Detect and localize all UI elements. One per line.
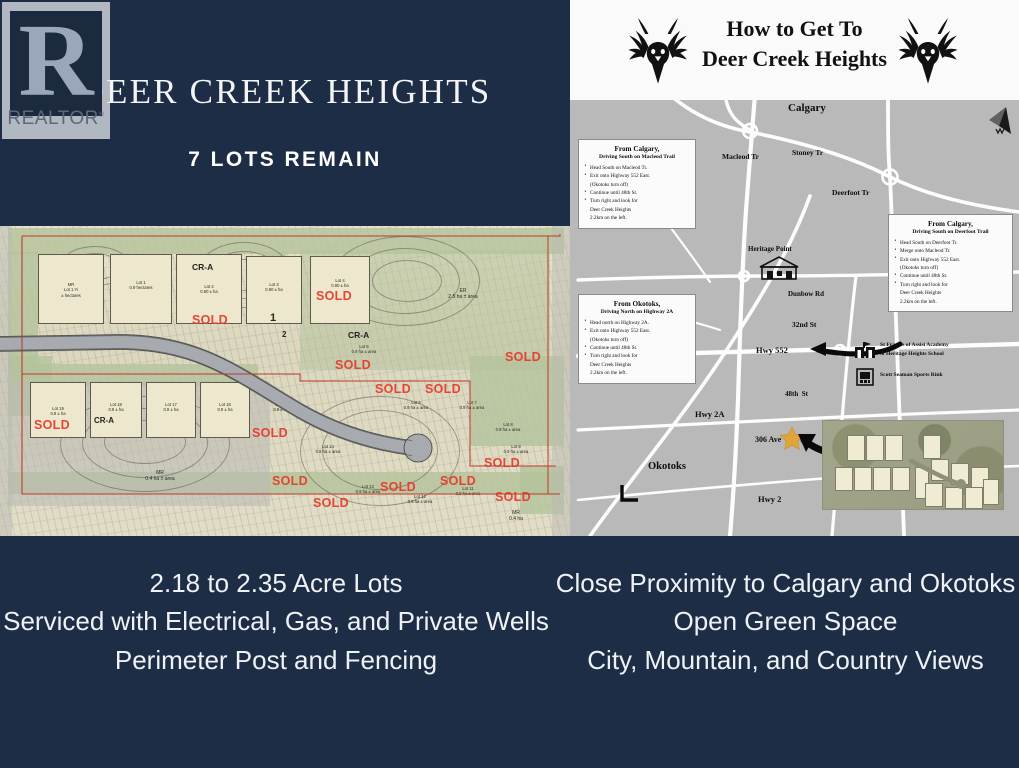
directions-subtitle: Driving South on Macleod Trail: [584, 154, 690, 162]
inset-road: [823, 421, 1004, 510]
hwy552-arrow-head: [810, 342, 826, 356]
directions-box-from-calgary-macleod: From Calgary, Driving South on Macleod T…: [578, 139, 696, 229]
poi-label-school: St Francis of Assisi Academy & Heritage …: [880, 341, 949, 358]
arena-icon: [856, 368, 874, 386]
deer-head-icon: [888, 10, 968, 90]
map-label-okotoks: Okotoks: [648, 461, 686, 472]
map-label-48th-st: 48th St: [785, 390, 808, 398]
directions-subtitle: Driving South on Deerfoot Trail: [894, 229, 1007, 237]
directions-step: (Okotoks turn off): [584, 336, 690, 344]
map-label-hwy-2: Hwy 2: [758, 494, 781, 504]
title-banner: DEER CREEK HEIGHTS 7 LOTS REMAIN R REALT…: [0, 0, 570, 226]
realtor-watermark: R REALTOR®: [2, 2, 110, 139]
map-label-hwy-552: Hwy 552: [756, 345, 788, 355]
directions-step: Turn right and look for: [584, 197, 690, 205]
features-footer: 2.18 to 2.35 Acre Lots Serviced with Ele…: [0, 536, 1019, 768]
heritage-point-building-icon: [758, 255, 800, 281]
aerial-lot-inset[interactable]: [822, 420, 1004, 510]
map-label-deerfoot-tr: Deerfoot Tr: [832, 188, 869, 197]
directions-title: From Calgary,: [584, 144, 690, 154]
directions-step: Deer Creek Heights: [584, 361, 690, 369]
directions-step: Turn right and look for: [584, 352, 690, 360]
directions-step: Exit onto Highway 552 East.: [894, 256, 1007, 264]
map-label-hwy-2a: Hwy 2A: [695, 409, 725, 419]
directions-step: Exit onto Highway 552 East.: [584, 172, 690, 180]
subdivision-plat-map[interactable]: MRLot 1 Yi± hectares Lot 10.9 hectares L…: [0, 226, 570, 536]
directions-step: Head South on Macleod Tr.: [584, 164, 690, 172]
map-label-stoney-tr: Stoney Tr: [792, 148, 823, 157]
directions-step: Merge onto Macleod Tr.: [894, 247, 1007, 255]
directions-subtitle: Driving North on Highway 2A: [584, 309, 690, 317]
directions-step: 2.2km on the left.: [584, 369, 690, 377]
directions-step: Exit onto Highway 552 East.: [584, 327, 690, 335]
realtor-wordmark: REALTOR®: [2, 108, 110, 130]
map-label-dunbow-rd: Dunbow Rd: [788, 290, 824, 298]
features-right-text: Close Proximity to Calgary and Okotoks O…: [552, 564, 1019, 679]
poi-school-line1: St Francis of Assisi Academy: [880, 342, 949, 348]
directions-step: 2.2km on the left.: [584, 214, 690, 222]
map-header: How to Get To Deer Creek Heights: [570, 0, 1019, 100]
directions-step: Head north on Highway 2A.: [584, 319, 690, 327]
directions-step-list: Head South on Deerfoot Tr. Merge onto Ma…: [894, 239, 1007, 306]
directions-step: (Okotoks turn off): [584, 181, 690, 189]
registered-mark: ®: [99, 112, 105, 119]
directions-title: From Okotoks,: [584, 299, 690, 309]
directions-step-list: Head north on Highway 2A. Exit onto High…: [584, 319, 690, 378]
map-label-calgary: Calgary: [788, 102, 826, 114]
directions-step: Deer Creek Heights: [894, 289, 1007, 297]
directions-step: Turn right and look for: [894, 281, 1007, 289]
directions-step: Continue until 48th St.: [894, 272, 1007, 280]
directions-step: (Okotoks turn off): [894, 264, 1007, 272]
parcel-boundary-line: [0, 226, 570, 536]
poi-label-rink: Scott Seaman Sports Rink: [880, 372, 943, 378]
directions-step: Continue until 48th St.: [584, 344, 690, 352]
directions-step: 2.2km on the left.: [894, 298, 1007, 306]
deer-head-icon: [618, 10, 698, 90]
directions-step: Deer Creek Heights: [584, 206, 690, 214]
map-label-306-ave: 306 Ave: [755, 435, 781, 444]
north-arrow-icon: [985, 104, 1015, 138]
features-left-text: 2.18 to 2.35 Acre Lots Serviced with Ele…: [0, 564, 552, 679]
realtor-wordmark-text: REALTOR: [7, 108, 99, 129]
poi-school-line2: & Heritage Heights School: [880, 351, 944, 357]
map-label-heritage-point: Heritage Point: [748, 245, 792, 253]
realtor-r-letter: R: [10, 11, 102, 116]
map-label-32nd-st: 32nd St: [792, 320, 816, 329]
directions-step: Head South on Deerfoot Tr.: [894, 239, 1007, 247]
directions-step-list: Head South on Macleod Tr. Exit onto High…: [584, 164, 690, 223]
directions-box-from-calgary-deerfoot: From Calgary, Driving South on Deerfoot …: [888, 214, 1013, 312]
lots-remaining-subtitle: 7 LOTS REMAIN: [0, 148, 570, 172]
directions-step: Continue until 48th St.: [584, 189, 690, 197]
school-building-icon: [854, 341, 876, 359]
map-label-macleod-tr: Macleod Tr: [722, 152, 759, 161]
directions-title: From Calgary,: [894, 219, 1007, 229]
directions-box-from-okotoks: From Okotoks, Driving North on Highway 2…: [578, 294, 696, 384]
